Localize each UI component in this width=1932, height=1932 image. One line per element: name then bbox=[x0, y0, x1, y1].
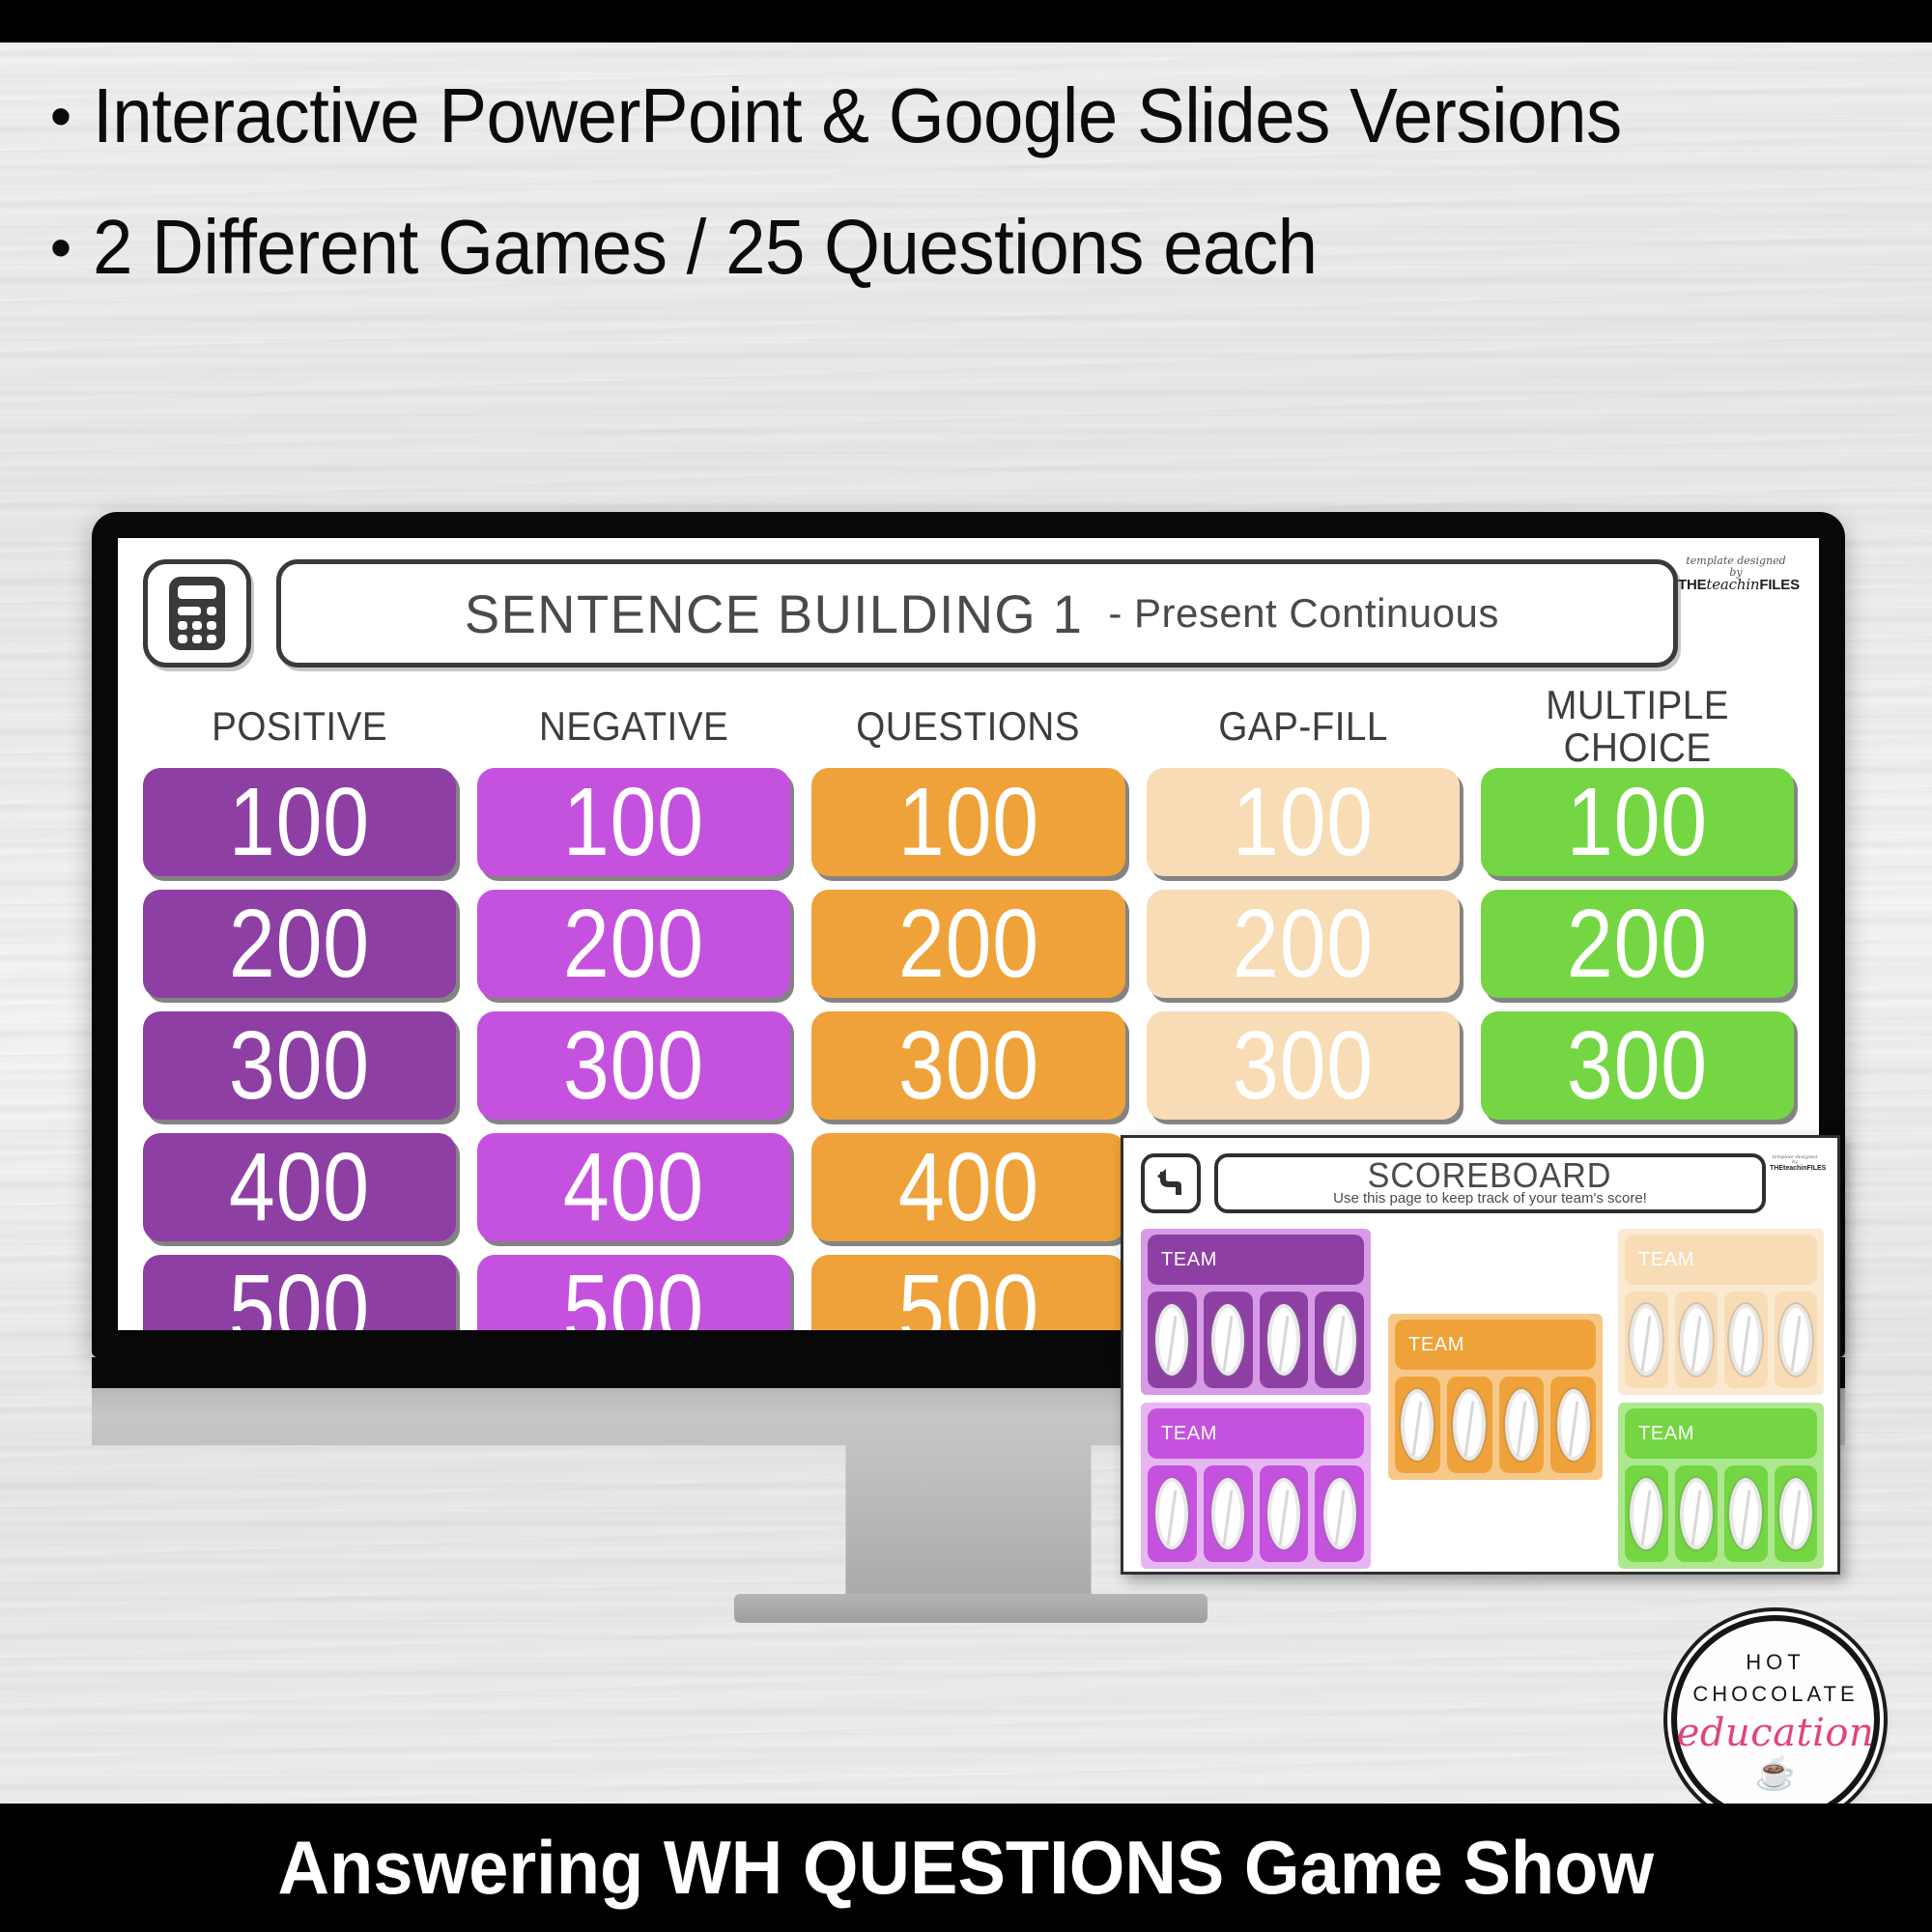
back-arrow-icon bbox=[1153, 1166, 1188, 1201]
value-tile-label: 300 bbox=[1567, 1017, 1708, 1114]
zero-digit-icon bbox=[1630, 1478, 1662, 1549]
value-tile[interactable]: 500 bbox=[477, 1255, 790, 1330]
value-tile[interactable]: 500 bbox=[811, 1255, 1124, 1330]
value-tile[interactable]: 300 bbox=[143, 1011, 456, 1120]
value-tile-label: 200 bbox=[897, 895, 1038, 992]
top-black-bar bbox=[0, 0, 1932, 43]
brand-logo: HOT CHOCOLATE education ☕ bbox=[1671, 1615, 1880, 1824]
team-name-field[interactable]: TEAM bbox=[1148, 1235, 1364, 1285]
score-digit-slot[interactable] bbox=[1499, 1377, 1545, 1473]
score-digit-slot[interactable] bbox=[1625, 1292, 1668, 1388]
zero-digit-icon bbox=[1729, 1478, 1762, 1549]
score-digit-slot[interactable] bbox=[1625, 1465, 1668, 1562]
score-digit-slot[interactable] bbox=[1724, 1292, 1768, 1388]
zero-digit-icon bbox=[1155, 1478, 1188, 1549]
zero-digit-icon bbox=[1323, 1304, 1356, 1376]
team-name-field[interactable]: TEAM bbox=[1148, 1408, 1364, 1459]
scoreboard-header: SCOREBOARD Use this page to keep track o… bbox=[1141, 1153, 1820, 1213]
zero-digit-icon bbox=[1630, 1304, 1662, 1376]
scoreboard-team-grid: TEAMTEAMTEAMTEAMTEAM bbox=[1141, 1229, 1820, 1557]
score-digit-row bbox=[1625, 1292, 1817, 1388]
score-digit-row bbox=[1625, 1465, 1817, 1562]
team-score-panel[interactable]: TEAM bbox=[1618, 1403, 1824, 1569]
category-header: NEGATIVE bbox=[490, 685, 778, 768]
value-tile[interactable]: 400 bbox=[143, 1133, 456, 1241]
value-tile-label: 200 bbox=[563, 895, 704, 992]
bullet-text-1: Interactive PowerPoint & Google Slides V… bbox=[93, 70, 1781, 162]
value-tile[interactable]: 200 bbox=[143, 890, 456, 998]
zero-digit-icon bbox=[1505, 1389, 1538, 1461]
score-digit-slot[interactable] bbox=[1675, 1465, 1719, 1562]
team-score-panel[interactable]: TEAM bbox=[1388, 1314, 1603, 1480]
value-tile-label: 100 bbox=[1567, 774, 1708, 870]
hot-cocoa-cup-icon: ☕ bbox=[1755, 1757, 1796, 1790]
bullet-text-2: 2 Different Games / 25 Questions each bbox=[93, 201, 1781, 294]
value-tile[interactable]: 200 bbox=[477, 890, 790, 998]
value-tile[interactable]: 400 bbox=[811, 1133, 1124, 1241]
logo-line-2: CHOCOLATE bbox=[1692, 1682, 1858, 1707]
back-button[interactable] bbox=[1141, 1153, 1201, 1213]
zero-digit-icon bbox=[1779, 1478, 1812, 1549]
zero-digit-icon bbox=[1557, 1389, 1590, 1461]
zero-digit-icon bbox=[1267, 1304, 1300, 1376]
value-tile[interactable]: 100 bbox=[477, 768, 790, 876]
value-tile-label: 100 bbox=[563, 774, 704, 870]
score-digit-slot[interactable] bbox=[1260, 1465, 1309, 1562]
value-tile-label: 100 bbox=[1233, 774, 1374, 870]
calculator-button[interactable] bbox=[143, 559, 251, 668]
value-tile[interactable]: 100 bbox=[143, 768, 456, 876]
score-digit-slot[interactable] bbox=[1204, 1292, 1253, 1388]
zero-digit-icon bbox=[1155, 1304, 1188, 1376]
logo-line-1: HOT bbox=[1746, 1650, 1804, 1675]
scoreboard-title: SCOREBOARD bbox=[1368, 1158, 1612, 1193]
logo-line-3: education bbox=[1677, 1711, 1875, 1755]
feature-bullet-list: • Interactive PowerPoint & Google Slides… bbox=[0, 70, 1932, 388]
value-tile[interactable]: 300 bbox=[811, 1011, 1124, 1120]
value-tile[interactable]: 100 bbox=[1147, 768, 1460, 876]
value-tile[interactable]: 400 bbox=[477, 1133, 790, 1241]
zero-digit-icon bbox=[1211, 1304, 1244, 1376]
zero-digit-icon bbox=[1267, 1478, 1300, 1549]
value-tile[interactable]: 300 bbox=[1147, 1011, 1460, 1120]
score-digit-slot[interactable] bbox=[1775, 1292, 1818, 1388]
zero-digit-icon bbox=[1211, 1478, 1244, 1549]
score-digit-slot[interactable] bbox=[1315, 1465, 1364, 1562]
value-tile-label: 500 bbox=[563, 1261, 704, 1330]
score-digit-slot[interactable] bbox=[1675, 1292, 1719, 1388]
score-digit-slot[interactable] bbox=[1260, 1292, 1309, 1388]
value-tile[interactable]: 300 bbox=[477, 1011, 790, 1120]
value-tile[interactable]: 100 bbox=[1481, 768, 1794, 876]
score-digit-slot[interactable] bbox=[1775, 1465, 1818, 1562]
value-tile[interactable]: 300 bbox=[1481, 1011, 1794, 1120]
team-name-field[interactable]: TEAM bbox=[1625, 1235, 1817, 1285]
value-tile-label: 200 bbox=[1233, 895, 1374, 992]
team-score-panel[interactable]: TEAM bbox=[1618, 1229, 1824, 1395]
list-item: • 2 Different Games / 25 Questions each bbox=[29, 201, 1932, 294]
bottom-banner: Answering WH QUESTIONS Game Show bbox=[0, 1804, 1932, 1932]
zero-digit-icon bbox=[1323, 1478, 1356, 1549]
zero-digit-icon bbox=[1453, 1389, 1486, 1461]
score-digit-row bbox=[1148, 1465, 1364, 1562]
score-digit-slot[interactable] bbox=[1148, 1465, 1197, 1562]
score-digit-row bbox=[1148, 1292, 1364, 1388]
team-name-field[interactable]: TEAM bbox=[1395, 1320, 1596, 1370]
value-tile[interactable]: 100 bbox=[811, 768, 1124, 876]
score-digit-row bbox=[1395, 1377, 1596, 1473]
list-item: • Interactive PowerPoint & Google Slides… bbox=[29, 70, 1932, 162]
category-header: QUESTIONS bbox=[824, 685, 1112, 768]
scoreboard-overlay-slide: SCOREBOARD Use this page to keep track o… bbox=[1121, 1135, 1840, 1575]
zero-digit-icon bbox=[1680, 1478, 1713, 1549]
value-tile-label: 500 bbox=[229, 1261, 370, 1330]
value-tile-label: 400 bbox=[229, 1139, 370, 1236]
team-score-panel[interactable]: TEAM bbox=[1141, 1403, 1371, 1569]
board-column-questions: QUESTIONS100200300400500 bbox=[811, 685, 1124, 1330]
score-digit-slot[interactable] bbox=[1148, 1292, 1197, 1388]
calculator-icon bbox=[167, 575, 227, 652]
category-header: POSITIVE bbox=[156, 685, 443, 768]
value-tile[interactable]: 200 bbox=[1481, 890, 1794, 998]
score-digit-slot[interactable] bbox=[1550, 1377, 1596, 1473]
slide-title-box: SENTENCE BUILDING 1 - Present Continuous bbox=[276, 559, 1678, 668]
score-digit-slot[interactable] bbox=[1315, 1292, 1364, 1388]
bullet-marker-icon: • bbox=[29, 70, 93, 162]
scoreboard-title-box: SCOREBOARD Use this page to keep track o… bbox=[1214, 1153, 1766, 1213]
value-tile-label: 200 bbox=[229, 895, 370, 992]
team-score-panel[interactable]: TEAM bbox=[1141, 1229, 1371, 1395]
score-digit-slot[interactable] bbox=[1724, 1465, 1768, 1562]
template-credit: template designed by THEteachinFILES bbox=[1678, 555, 1794, 593]
value-tile-label: 400 bbox=[897, 1139, 1038, 1236]
credit-line-1: template designed by bbox=[1678, 555, 1794, 578]
credit-line-2: THEteachinFILES bbox=[1678, 578, 1794, 593]
value-tile-label: 100 bbox=[229, 774, 370, 870]
value-tile-label: 300 bbox=[563, 1017, 704, 1114]
value-tile-label: 200 bbox=[1567, 895, 1708, 992]
value-tile-label: 300 bbox=[897, 1017, 1038, 1114]
zero-digit-icon bbox=[1680, 1304, 1713, 1376]
team-name-field[interactable]: TEAM bbox=[1625, 1408, 1817, 1459]
board-column-negative: NEGATIVE100200300400500 bbox=[477, 685, 790, 1330]
zero-digit-icon bbox=[1779, 1304, 1812, 1376]
monitor-stand-base bbox=[734, 1594, 1207, 1623]
page-subtitle: - Present Continuous bbox=[1108, 590, 1499, 637]
scoreboard-template-credit: template designed by THEteachinFILES bbox=[1770, 1155, 1820, 1172]
value-tile-label: 500 bbox=[897, 1261, 1038, 1330]
zero-digit-icon bbox=[1729, 1304, 1762, 1376]
value-tile-label: 100 bbox=[897, 774, 1038, 870]
page-title: SENTENCE BUILDING 1 bbox=[465, 582, 1083, 645]
value-tile[interactable]: 500 bbox=[143, 1255, 456, 1330]
value-tile-label: 400 bbox=[563, 1139, 704, 1236]
value-tile-label: 300 bbox=[229, 1017, 370, 1114]
bullet-marker-icon: • bbox=[29, 201, 93, 294]
category-header: GAP-FILL bbox=[1159, 685, 1447, 768]
credit-line-1: template designed by bbox=[1770, 1155, 1820, 1165]
credit-line-2: THEteachinFILES bbox=[1770, 1165, 1820, 1172]
slide-header: SENTENCE BUILDING 1 - Present Continuous… bbox=[143, 559, 1794, 668]
score-digit-slot[interactable] bbox=[1204, 1465, 1253, 1562]
value-tile-label: 300 bbox=[1233, 1017, 1374, 1114]
score-digit-slot[interactable] bbox=[1447, 1377, 1492, 1473]
value-tile[interactable]: 200 bbox=[811, 890, 1124, 998]
value-tile[interactable]: 200 bbox=[1147, 890, 1460, 998]
board-column-positive: POSITIVE100200300400500 bbox=[143, 685, 456, 1330]
zero-digit-icon bbox=[1401, 1389, 1434, 1461]
category-header: MULTIPLE CHOICE bbox=[1493, 685, 1781, 768]
bottom-banner-text: Answering WH QUESTIONS Game Show bbox=[278, 1824, 1655, 1912]
score-digit-slot[interactable] bbox=[1395, 1377, 1440, 1473]
